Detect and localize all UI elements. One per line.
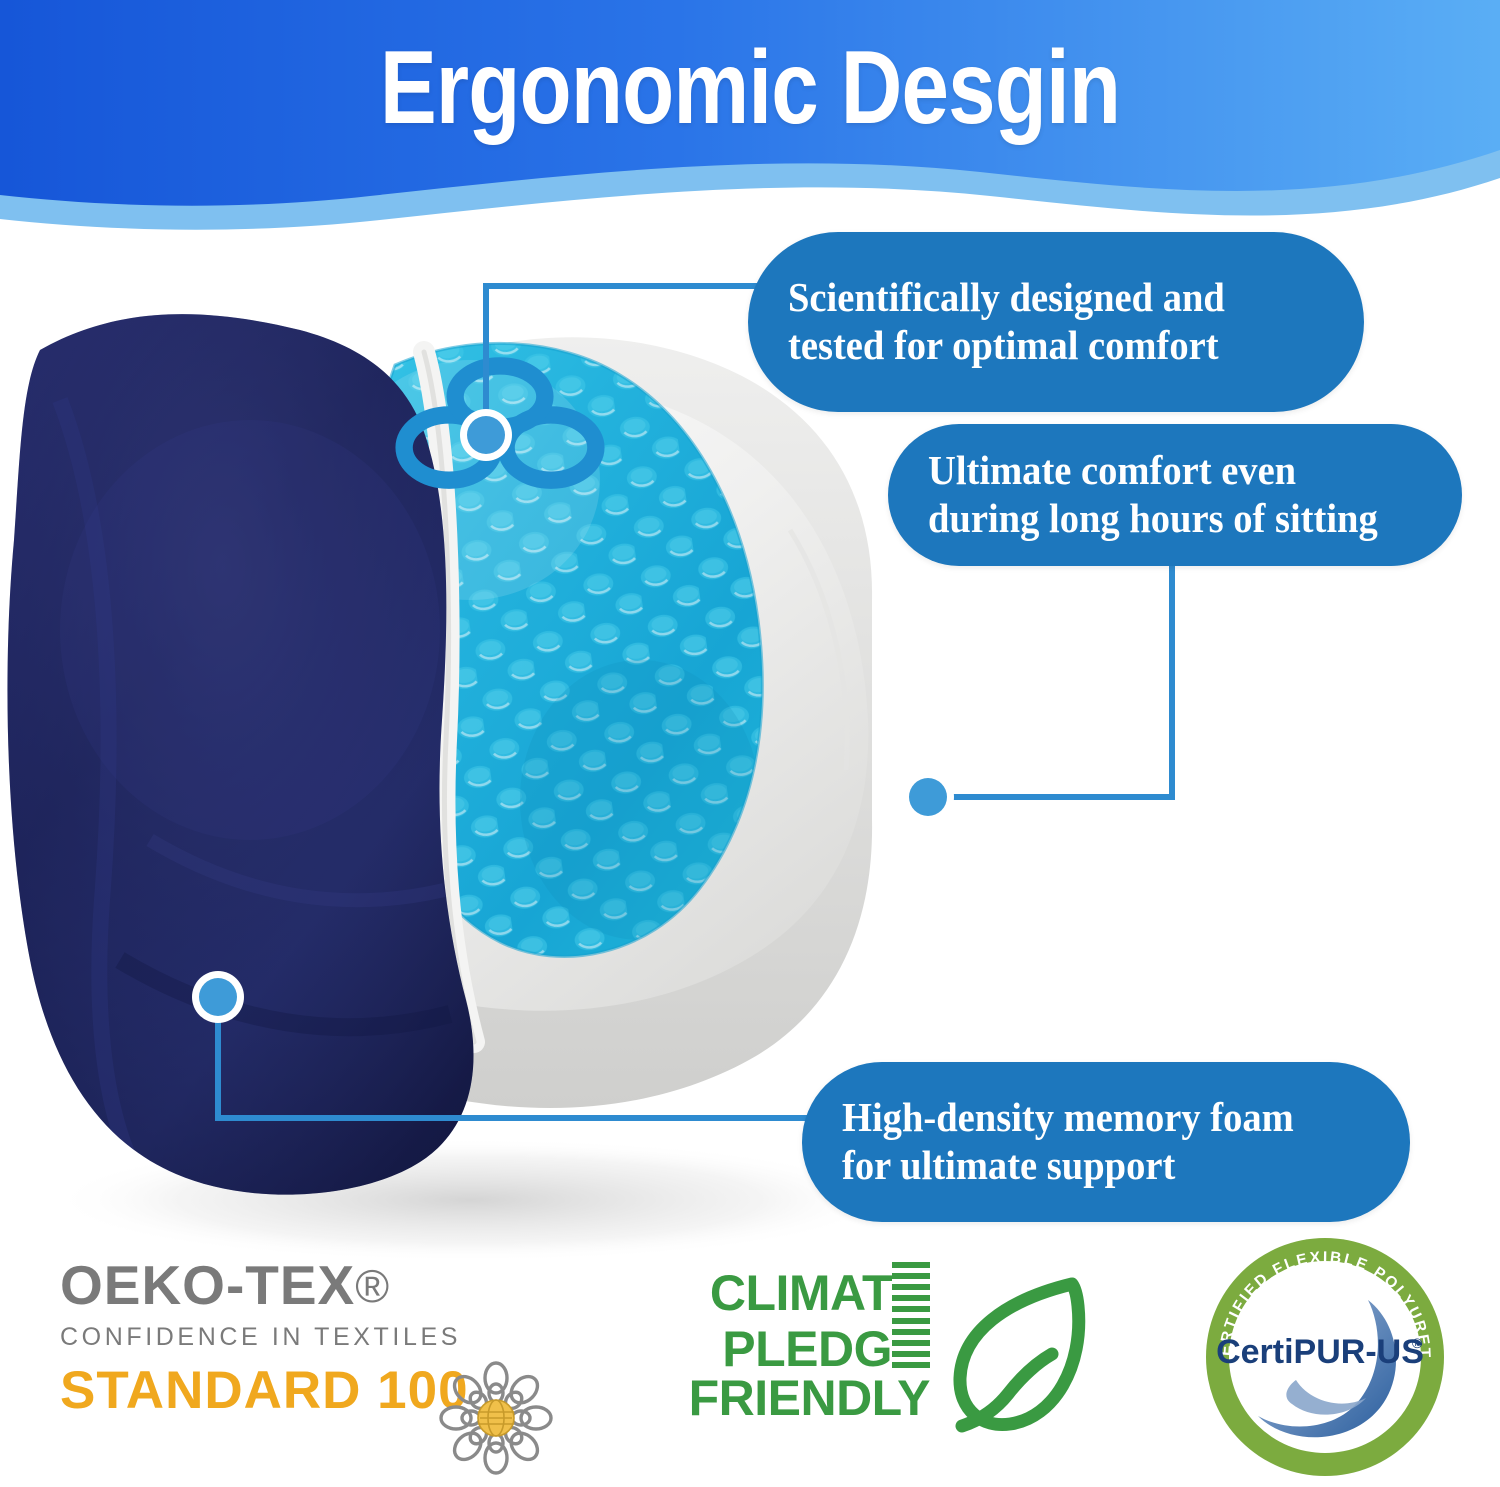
certification-badges: OEKO-TEX® CONFIDENCE IN TEXTILES STANDAR… <box>0 1240 1500 1472</box>
certipur-seal-icon: CONTAINS CERTIFIED FLEXIBLE POLYURETHANE… <box>1200 1232 1450 1482</box>
oeko-tex-tagline: CONFIDENCE IN TEXTILES <box>60 1323 560 1352</box>
callout-memory-foam-line1: High-density memory foam <box>842 1094 1338 1142</box>
oeko-tex-brand: OEKO-TEX® <box>60 1258 560 1313</box>
oeko-tex-brand-text: OEKO-TEX <box>60 1254 355 1316</box>
page-title: Ergonomic Desgin <box>135 36 1365 140</box>
registered-mark-icon: ® <box>355 1260 390 1312</box>
leaf-icon <box>934 1270 1104 1438</box>
climate-pledge-line3: FRIENDLY <box>662 1374 930 1423</box>
badge-oeko-tex: OEKO-TEX® CONFIDENCE IN TEXTILES STANDAR… <box>60 1258 560 1438</box>
callout-scientific-line1: Scientifically designed and <box>788 274 1292 322</box>
certipur-center-text: CertiPUR-US <box>1216 1333 1424 1371</box>
certipur-registered-icon: ® <box>1412 1335 1423 1351</box>
callout-scientific: Scientifically designed and tested for o… <box>748 232 1364 412</box>
oeko-tex-flower-globe-icon <box>432 1354 560 1482</box>
striped-e-icon-2 <box>892 1318 930 1368</box>
callout-ultimate-comfort-line1: Ultimate comfort even <box>928 447 1392 495</box>
callout-ultimate-comfort: Ultimate comfort even during long hours … <box>888 424 1462 566</box>
striped-e-icon-1 <box>892 1262 930 1312</box>
callout-memory-foam-line2: for ultimate support <box>842 1142 1338 1190</box>
climate-pledge-line2-text: PLEDG <box>722 1321 892 1377</box>
callout-ultimate-comfort-line2: during long hours of sitting <box>928 495 1392 543</box>
climate-pledge-line1-text: CLIMAT <box>710 1265 892 1321</box>
badge-climate-pledge-friendly: CLIMAT PLEDG FRIENDLY <box>662 1262 1102 1442</box>
climate-pledge-line3-text: FRIENDLY <box>689 1370 930 1426</box>
callout-scientific-line2: tested for optimal comfort <box>788 322 1292 370</box>
callout-memory-foam: High-density memory foam for ultimate su… <box>802 1062 1410 1222</box>
badge-certipur-us: CONTAINS CERTIFIED FLEXIBLE POLYURETHANE… <box>1200 1232 1450 1482</box>
climate-pledge-line2: PLEDG <box>662 1318 930 1374</box>
infographic-canvas: Ergonomic Desgin <box>0 0 1500 1472</box>
climate-pledge-line1: CLIMAT <box>662 1262 930 1318</box>
climate-pledge-text: CLIMAT PLEDG FRIENDLY <box>662 1262 930 1423</box>
